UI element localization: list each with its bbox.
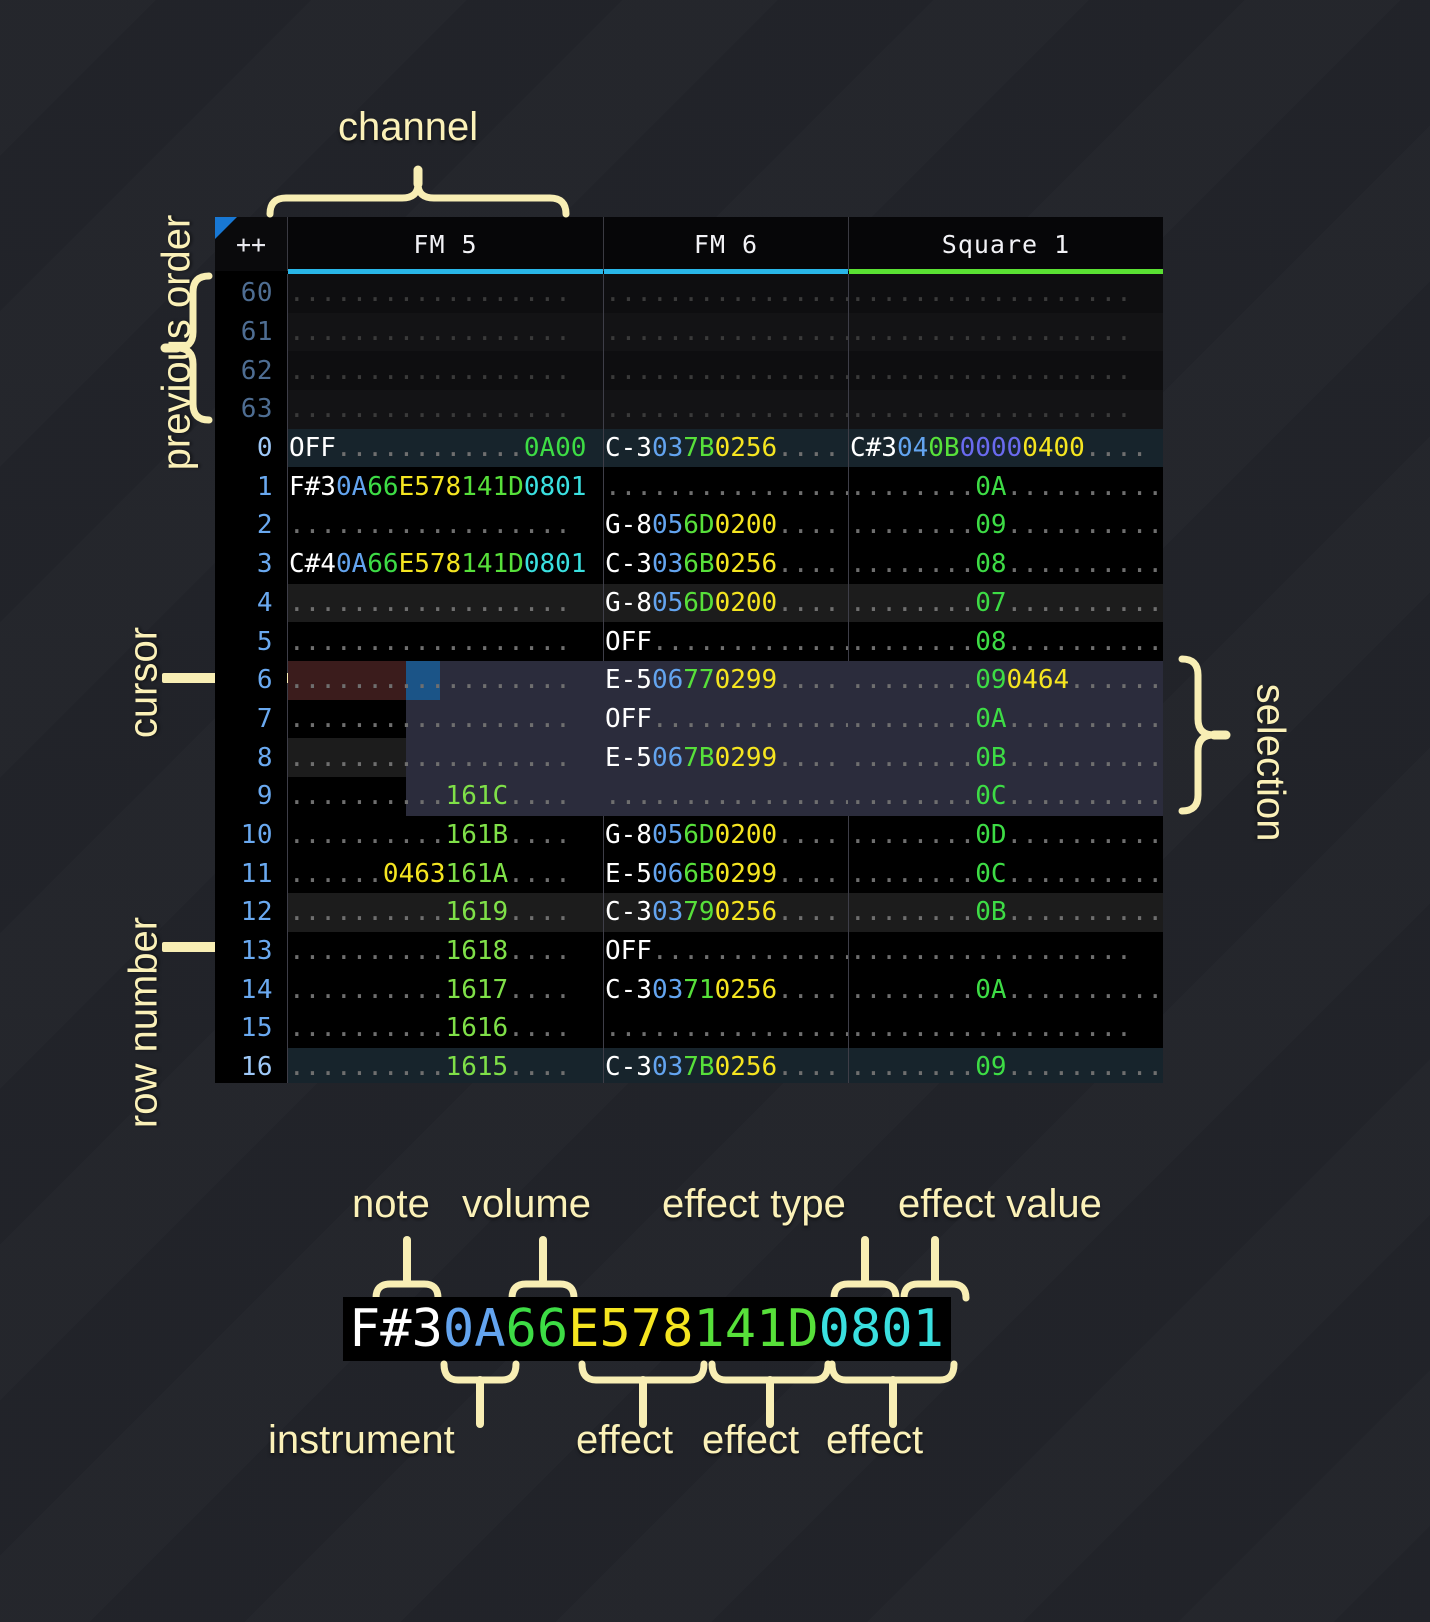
cell-segment-dot: .................. <box>605 472 848 502</box>
channel-cell[interactable]: C-3037B0256.... <box>603 1048 848 1083</box>
channel-cell[interactable]: .................. <box>287 351 603 390</box>
cell-segment-dot: ........ <box>850 897 975 927</box>
row-number: 6 <box>215 665 287 695</box>
channel-cell[interactable]: .................. <box>848 351 1163 390</box>
channel-cell[interactable]: .................. <box>603 351 848 390</box>
cell-segment-vol: 0C <box>975 781 1006 811</box>
cell-segment-dot: ........ <box>850 588 975 618</box>
cell-segment-dot: ........ <box>850 781 975 811</box>
legend-segment-effect_green: 14 <box>693 1299 756 1359</box>
cell-segment-ins: 06 <box>652 859 683 889</box>
row-cells[interactable]: ..................OFF...................… <box>287 622 1163 661</box>
cell-text: ........0B.......... <box>849 897 1163 927</box>
cell-text: .................. <box>288 510 571 540</box>
row-number: 63 <box>215 394 287 424</box>
cell-segment-fx: 99 <box>746 665 777 695</box>
cell-segment-dot: .......... <box>1007 781 1163 811</box>
cell-segment-fx: 56 <box>746 433 777 463</box>
cell-segment-dot: .... <box>508 820 571 850</box>
row-number: 13 <box>215 936 287 966</box>
cell-text: ........0C.......... <box>849 781 1163 811</box>
cell-segment-dot: ........ <box>850 510 975 540</box>
row-cells[interactable]: OFF............0A00C-3037B0256....C#3040… <box>287 429 1163 468</box>
pattern-row[interactable]: 8..................E-5067B0299..........… <box>215 738 1163 777</box>
annotation-instrument-label: instrument <box>268 1418 455 1463</box>
cell-segment-fx: 78 <box>430 472 461 502</box>
pattern-row[interactable]: 16..........1615....C-3037B0256.........… <box>215 1048 1163 1083</box>
channel-cell[interactable]: ........0A.......... <box>848 700 1163 739</box>
pattern-row[interactable]: 11......0463161A....E-5066B0299.........… <box>215 854 1163 893</box>
cell-segment-dot: .......... <box>1007 743 1163 773</box>
legend-segment-effect_yellow: 78 <box>631 1299 694 1359</box>
annotation-previous-order-brace <box>165 272 215 424</box>
cell-segment-dot: .... <box>777 743 840 773</box>
channel-cell[interactable]: ........09.......... <box>848 506 1163 545</box>
cell-segment-fx: 02 <box>715 665 746 695</box>
pattern-row[interactable]: 10..........161B....G-8056D0200.........… <box>215 816 1163 855</box>
channel-cell[interactable]: C#3040B00000400.... <box>848 429 1163 468</box>
channel-name-label: Square 1 <box>942 230 1070 259</box>
annotation-cursor-label: cursor <box>122 583 167 783</box>
cell-segment-note: E-5 <box>605 859 652 889</box>
cell-segment-dot: .......... <box>1007 472 1163 502</box>
cell-segment-vol: 0B <box>975 743 1006 773</box>
legend-segment-effect_cyan: 01 <box>881 1299 944 1359</box>
pattern-row[interactable]: 2..................G-8056D0200..........… <box>215 506 1163 545</box>
annotation-effect-3-label: effect <box>826 1418 923 1463</box>
channel-header-square1[interactable]: Square 1 <box>848 217 1163 271</box>
cell-segment-fx: 00 <box>746 820 777 850</box>
channel-cell[interactable]: .................. <box>603 390 848 429</box>
cell-segment-dot: ........ <box>850 820 975 850</box>
cell-segment-volH: 1617 <box>446 975 509 1005</box>
channel-cell[interactable]: .................. <box>287 313 603 352</box>
cell-segment-note: G-8 <box>605 510 652 540</box>
channel-cell[interactable]: .................. <box>287 390 603 429</box>
pattern-row[interactable]: 1F#30A66E578141D0801....................… <box>215 467 1163 506</box>
cell-segment-dot: .... <box>777 975 840 1005</box>
cell-segment-fx: 56 <box>746 1052 777 1082</box>
cell-segment-dot: .......... <box>1007 897 1163 927</box>
annotation-selection-label: selection <box>1248 633 1293 893</box>
pattern-row[interactable]: 62......................................… <box>215 351 1163 390</box>
cell-segment-volH: 161A <box>446 859 509 889</box>
empty-marker: .................. <box>850 278 1132 308</box>
cell-segment-ins: 05 <box>652 820 683 850</box>
cell-segment-dot: ........ <box>850 627 975 657</box>
cell-segment-note: OFF <box>605 936 652 966</box>
channel-cell[interactable]: .................. <box>287 661 603 700</box>
cell-text: E-5067B0299.... <box>604 743 840 773</box>
channel-cell[interactable]: ........0B.......... <box>848 893 1163 932</box>
cell-text: C#3040B00000400.... <box>849 433 1147 463</box>
row-number: 61 <box>215 317 287 347</box>
row-cells[interactable]: ........................................… <box>287 351 1163 390</box>
cell-text: C-303710256.... <box>604 975 840 1005</box>
cell-segment-fx: 02 <box>715 588 746 618</box>
channel-cell[interactable]: ........0D.......... <box>848 816 1163 855</box>
channel-cell[interactable]: ..........1616.... <box>287 1009 603 1048</box>
cell-segment-fx: 56 <box>746 897 777 927</box>
cell-text: ..........1619.... <box>288 897 571 927</box>
channel-cell[interactable]: .................. <box>603 467 848 506</box>
pattern-row[interactable]: 7..................OFF..................… <box>215 700 1163 739</box>
channel-cell[interactable]: ........09.......... <box>848 1048 1163 1083</box>
row-number: 14 <box>215 975 287 1005</box>
channel-cell[interactable]: OFF............... <box>603 932 848 971</box>
channel-cell[interactable]: G-8056D0200.... <box>603 584 848 623</box>
row-cells[interactable]: ..........161B....G-8056D0200...........… <box>287 816 1163 855</box>
cell-segment-dot: .......... <box>289 897 446 927</box>
cell-segment-dot: .................. <box>605 781 848 811</box>
row-number: 0 <box>215 433 287 463</box>
cell-segment-note: C#4 <box>289 549 336 579</box>
channel-cell[interactable]: ........0C.......... <box>848 854 1163 893</box>
cell-text: .................. <box>604 781 848 811</box>
cell-text: ........0C.......... <box>849 859 1163 889</box>
cell-text: .................. <box>288 704 571 734</box>
legend-segment-effect_green: 1D <box>756 1299 819 1359</box>
cell-text: ..........1618.... <box>288 936 571 966</box>
channel-cell[interactable]: .................. <box>848 274 1163 313</box>
cell-segment-fxg: 6B <box>683 859 714 889</box>
annotation-selection-brace <box>1176 655 1226 815</box>
annotation-volume-label: volume <box>462 1182 591 1227</box>
annotation-channel-label: channel <box>338 105 478 150</box>
cell-text: ..........1617.... <box>288 975 571 1005</box>
channel-cell[interactable]: .................. <box>603 313 848 352</box>
channel-cell[interactable]: .................. <box>603 1009 848 1048</box>
channel-cell[interactable]: ..........1617.... <box>287 970 603 1009</box>
cell-segment-vol: 08 <box>975 627 1006 657</box>
row-cells[interactable]: ........................................… <box>287 390 1163 429</box>
cell-segment-dot: .......... <box>289 936 446 966</box>
cell-segment-dot: .... <box>508 975 571 1005</box>
cell-text: .................. <box>604 472 848 502</box>
channel-cell[interactable]: ........07.......... <box>848 584 1163 623</box>
cell-segment-vol: 09 <box>975 510 1006 540</box>
channel-cell[interactable]: C#40A66E578141D0801 <box>287 545 603 584</box>
channel-cell[interactable]: ..........1618.... <box>287 932 603 971</box>
cell-segment-dot: .......... <box>289 820 446 850</box>
row-number: 15 <box>215 1013 287 1043</box>
row-number: 8 <box>215 743 287 773</box>
cell-segment-dot: .... <box>508 781 571 811</box>
channel-cell[interactable]: E-506770299.... <box>603 661 848 700</box>
cell-segment-fxp: 00 <box>960 433 991 463</box>
row-cells[interactable]: ..................OFF...................… <box>287 700 1163 739</box>
cell-segment-fx: 78 <box>430 549 461 579</box>
channel-cell[interactable]: .................. <box>287 622 603 661</box>
pattern-row[interactable]: 5..................OFF..................… <box>215 622 1163 661</box>
cell-text: ........0D.......... <box>849 820 1163 850</box>
cell-text: .................. <box>288 743 571 773</box>
channel-cell[interactable]: ..........161B.... <box>287 816 603 855</box>
cell-segment-dot: .......... <box>289 1052 446 1082</box>
row-number: 9 <box>215 781 287 811</box>
channel-cell[interactable]: OFF............0A00 <box>287 429 603 468</box>
cell-segment-dot: .......... <box>1007 820 1163 850</box>
channel-cell[interactable]: F#30A66E578141D0801 <box>287 467 603 506</box>
row-cells[interactable]: ........................................… <box>287 274 1163 313</box>
row-cells[interactable]: ..................E-5067B0299...........… <box>287 738 1163 777</box>
channel-cell[interactable]: .................. <box>287 738 603 777</box>
empty-marker: .................. <box>605 356 848 386</box>
channel-cell[interactable]: .................. <box>287 700 603 739</box>
channel-cell[interactable]: .................. <box>848 313 1163 352</box>
channel-cell[interactable]: .................. <box>848 1009 1163 1048</box>
channel-cell[interactable]: ........08.......... <box>848 622 1163 661</box>
channel-header-fm5[interactable]: FM 5 <box>287 217 603 271</box>
cell-segment-ins: 03 <box>652 897 683 927</box>
channel-cell[interactable]: OFF............... <box>603 700 848 739</box>
cell-segment-note: OFF <box>605 627 652 657</box>
channel-cell[interactable]: ........090464...... <box>848 661 1163 700</box>
row-cells[interactable]: C#40A66E578141D0801C-3036B0256..........… <box>287 545 1163 584</box>
pattern-row[interactable]: 60......................................… <box>215 274 1163 313</box>
channel-header-fm6[interactable]: FM 6 <box>603 217 848 271</box>
channel-cell[interactable]: ..........1619.... <box>287 893 603 932</box>
cell-segment-ins: 03 <box>652 433 683 463</box>
cell-segment-vol: 0A <box>975 975 1006 1005</box>
row-number: 11 <box>215 859 287 889</box>
channel-cell[interactable]: .................. <box>287 584 603 623</box>
empty-marker: .................. <box>850 394 1132 424</box>
pattern-tracker-window[interactable]: ++ FM 5 FM 6 Square 1 60................… <box>215 217 1163 1083</box>
cell-text: .................. <box>849 1013 1132 1043</box>
cell-text: ........0B.......... <box>849 743 1163 773</box>
cell-segment-ins: 05 <box>652 510 683 540</box>
pattern-row[interactable]: 15..........1616........................… <box>215 1009 1163 1048</box>
channel-cell[interactable]: .................. <box>848 932 1163 971</box>
empty-marker: .................. <box>289 356 571 386</box>
cell-segment-note: G-8 <box>605 820 652 850</box>
channel-cell[interactable]: C-303710256.... <box>603 970 848 1009</box>
channel-name-label: FM 6 <box>694 230 758 259</box>
cell-segment-note: C-3 <box>605 1052 652 1082</box>
cell-segment-dot: .......... <box>289 781 446 811</box>
cell-text: .................. <box>288 278 571 308</box>
cell-segment-fx: 04 <box>1007 665 1038 695</box>
cell-text: C-3037B0256.... <box>604 1052 840 1082</box>
channel-cell[interactable]: C-303790256.... <box>603 893 848 932</box>
cell-text: .................. <box>288 665 571 695</box>
cell-segment-fx: 02 <box>715 433 746 463</box>
cell-segment-ins: 0A <box>336 549 367 579</box>
channel-cell[interactable]: G-8056D0200.... <box>603 816 848 855</box>
channel-cell[interactable]: .................. <box>848 390 1163 429</box>
cell-segment-dot: .... <box>1085 433 1148 463</box>
cell-segment-dot: .... <box>777 820 840 850</box>
cell-segment-ins: 03 <box>652 975 683 1005</box>
cell-segment-fx: 56 <box>746 975 777 1005</box>
row-cells[interactable]: ..........1617....C-303710256...........… <box>287 970 1163 1009</box>
pattern-row[interactable]: 9..........161C.........................… <box>215 777 1163 816</box>
cell-segment-dot: .................. <box>289 665 571 695</box>
channel-cell[interactable]: E-5066B0299.... <box>603 854 848 893</box>
channel-cell[interactable]: .................. <box>287 274 603 313</box>
cell-segment-fxg: 14 <box>461 472 492 502</box>
row-cells[interactable]: F#30A66E578141D0801.....................… <box>287 467 1163 506</box>
channel-cell[interactable]: .................. <box>603 274 848 313</box>
channel-cell[interactable]: ........08.......... <box>848 545 1163 584</box>
cell-segment-fxg: 6D <box>683 588 714 618</box>
channel-cell[interactable]: C-3036B0256.... <box>603 545 848 584</box>
channel-cell[interactable]: C-3037B0256.... <box>603 429 848 468</box>
cell-segment-dot: .................. <box>289 510 571 540</box>
pattern-row[interactable]: 61......................................… <box>215 313 1163 352</box>
cell-text: ........0A.......... <box>849 975 1163 1005</box>
cell-segment-dot: .... <box>777 859 840 889</box>
cell-segment-fxg: 77 <box>683 665 714 695</box>
cell-text: OFF............... <box>604 936 848 966</box>
cell-segment-dot: ............... <box>652 936 848 966</box>
channel-cell[interactable]: G-8056D0200.... <box>603 506 848 545</box>
cell-text: .................. <box>849 936 1132 966</box>
cell-segment-fx: 99 <box>746 859 777 889</box>
channel-cell[interactable]: ........0C.......... <box>848 777 1163 816</box>
cell-segment-ins: 06 <box>652 743 683 773</box>
pattern-rows[interactable]: 60......................................… <box>215 274 1163 1083</box>
pattern-row[interactable]: 63......................................… <box>215 390 1163 429</box>
channel-cell[interactable]: .................. <box>603 777 848 816</box>
legend-segment-instrument: 0A <box>443 1299 506 1359</box>
cell-segment-ins: 03 <box>652 1052 683 1082</box>
row-number: 3 <box>215 549 287 579</box>
cell-segment-dot: .... <box>508 1052 571 1082</box>
order-column-header[interactable]: ++ <box>215 217 287 271</box>
cell-segment-vol: 09 <box>975 1052 1006 1082</box>
pattern-row[interactable]: 12..........1619....C-303790256.........… <box>215 893 1163 932</box>
cell-segment-vol: 66 <box>367 549 398 579</box>
cell-segment-fx: 02 <box>715 897 746 927</box>
cell-segment-dot: .... <box>777 1052 840 1082</box>
cell-segment-dot: ............... <box>652 704 848 734</box>
row-cells[interactable]: ..........1616..........................… <box>287 1009 1163 1048</box>
cell-segment-vol: 07 <box>975 588 1006 618</box>
pattern-row[interactable]: 14..........1617....C-303710256.........… <box>215 970 1163 1009</box>
channel-cell[interactable]: OFF............... <box>603 622 848 661</box>
cell-segment-fxg: 71 <box>683 975 714 1005</box>
cell-segment-fx: 02 <box>715 975 746 1005</box>
pattern-row[interactable]: 6..................E-506770299..........… <box>215 661 1163 700</box>
cell-text: .................. <box>288 356 571 386</box>
cell-segment-note: OFF <box>289 433 336 463</box>
channel-cell[interactable]: ........0A.......... <box>848 970 1163 1009</box>
cell-text: C-303790256.... <box>604 897 840 927</box>
cell-segment-note: F#3 <box>289 472 336 502</box>
row-cells[interactable]: ..........1615....C-3037B0256...........… <box>287 1048 1163 1083</box>
cell-segment-note: C-3 <box>605 433 652 463</box>
cell-segment-volH: 161B <box>446 820 509 850</box>
empty-marker: .................. <box>605 317 848 347</box>
row-number: 7 <box>215 704 287 734</box>
cell-segment-dot: ........ <box>850 665 975 695</box>
cell-segment-fxg: 1D <box>493 549 524 579</box>
channel-cell[interactable]: ........0B.......... <box>848 738 1163 777</box>
cell-text: .................. <box>604 278 848 308</box>
cell-segment-fx: 04 <box>1022 433 1053 463</box>
pattern-row[interactable]: 4..................G-8056D0200..........… <box>215 584 1163 623</box>
cell-segment-fxp: 00 <box>991 433 1022 463</box>
legend-segment-note: F#3 <box>349 1299 443 1359</box>
annotation-effect-1-label: effect <box>576 1418 673 1463</box>
cell-segment-fx: E5 <box>399 472 430 502</box>
cell-segment-fx: 00 <box>1054 433 1085 463</box>
cell-text: ..........1616.... <box>288 1013 571 1043</box>
order-header-label: ++ <box>236 230 266 259</box>
cell-segment-note: E-5 <box>605 665 652 695</box>
cell-segment-fx: 64 <box>1038 665 1069 695</box>
cell-segment-fx: 0463 <box>383 859 446 889</box>
cell-segment-dot: .... <box>508 897 571 927</box>
row-number: 60 <box>215 278 287 308</box>
cell-segment-dot: .................. <box>289 588 571 618</box>
cell-segment-dot: .... <box>777 897 840 927</box>
cell-segment-dot: ........ <box>850 1052 975 1082</box>
cell-segment-dot: ........ <box>850 472 975 502</box>
cell-segment-volH: 161C <box>446 781 509 811</box>
legend-pattern-cell: F#30A66E578141D0801 <box>343 1297 951 1361</box>
channel-cell[interactable]: ......0463161A.... <box>287 854 603 893</box>
pattern-row[interactable]: 13..........1618....OFF.................… <box>215 932 1163 971</box>
cell-segment-fxg: 0B <box>928 433 959 463</box>
channel-cell[interactable]: ........0A.......... <box>848 467 1163 506</box>
row-number: 1 <box>215 472 287 502</box>
row-cells[interactable]: ..................E-506770299...........… <box>287 661 1163 700</box>
cell-text: .................. <box>849 278 1132 308</box>
annotation-effect-value-label: effect value <box>898 1182 1102 1227</box>
corner-marker-icon <box>215 217 237 239</box>
row-cells[interactable]: ..........161C..........................… <box>287 777 1163 816</box>
cell-segment-dot: .......... <box>1007 1052 1163 1082</box>
cell-text: ..........1615.... <box>288 1052 571 1082</box>
cell-segment-fx: 02 <box>715 859 746 889</box>
row-number: 10 <box>215 820 287 850</box>
cell-segment-dot: .... <box>777 549 840 579</box>
cell-text: ........09.......... <box>849 1052 1163 1082</box>
row-cells[interactable]: ..........1618....OFF...................… <box>287 932 1163 971</box>
cell-segment-dot: .......... <box>289 1013 446 1043</box>
channel-cell[interactable]: ..........1615.... <box>287 1048 603 1083</box>
row-cells[interactable]: ........................................… <box>287 313 1163 352</box>
cell-text: G-8056D0200.... <box>604 820 840 850</box>
pattern-row[interactable]: 0OFF............0A00C-3037B0256....C#304… <box>215 429 1163 468</box>
cell-text: ........08.......... <box>849 627 1163 657</box>
cell-text: G-8056D0200.... <box>604 588 840 618</box>
channel-cell[interactable]: ..........161C.... <box>287 777 603 816</box>
cell-text: .................. <box>288 627 571 657</box>
cell-text: OFF............... <box>604 704 848 734</box>
cell-segment-dot: .......... <box>1007 859 1163 889</box>
cell-segment-dot: .... <box>508 936 571 966</box>
pattern-row[interactable]: 3C#40A66E578141D0801C-3036B0256.........… <box>215 545 1163 584</box>
channel-cell[interactable]: .................. <box>287 506 603 545</box>
row-cells[interactable]: ..........1619....C-303790256...........… <box>287 893 1163 932</box>
cell-segment-volH: 1618 <box>446 936 509 966</box>
row-number: 62 <box>215 356 287 386</box>
cell-text: F#30A66E578141D0801 <box>288 472 586 502</box>
row-cells[interactable]: ......0463161A....E-5066B0299...........… <box>287 854 1163 893</box>
annotation-row-number-label: row number <box>122 903 167 1143</box>
channel-cell[interactable]: E-5067B0299.... <box>603 738 848 777</box>
cell-segment-vol: 09 <box>975 665 1006 695</box>
row-cells[interactable]: ..................G-8056D0200...........… <box>287 584 1163 623</box>
tracker-header: ++ FM 5 FM 6 Square 1 <box>215 217 1163 271</box>
cell-segment-note: C-3 <box>605 549 652 579</box>
row-cells[interactable]: ..................G-8056D0200...........… <box>287 506 1163 545</box>
cell-text: C#40A66E578141D0801 <box>288 549 586 579</box>
